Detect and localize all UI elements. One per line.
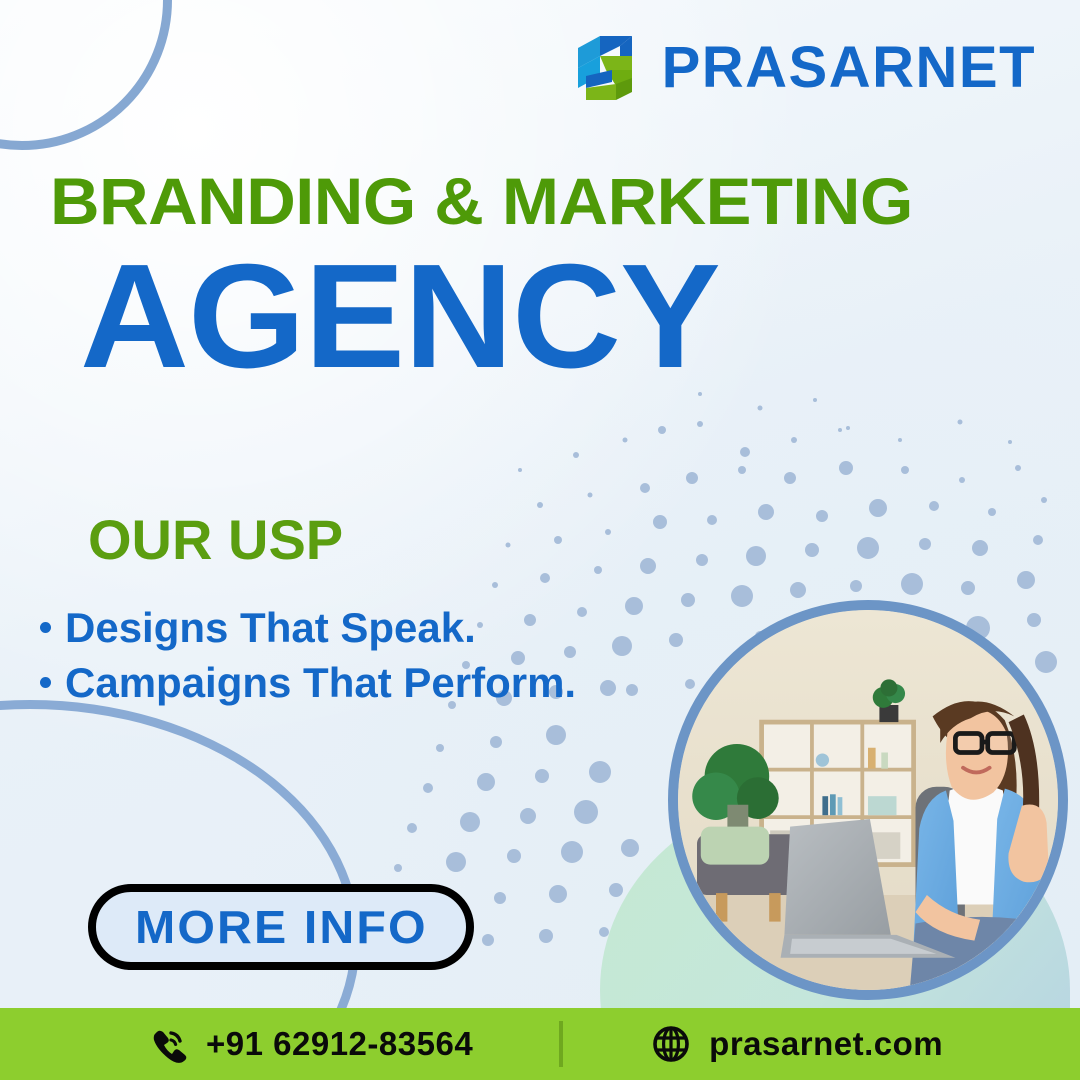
usp-item-label: Designs That Speak.: [65, 600, 476, 655]
bullet-icon: [40, 677, 51, 688]
list-item: Campaigns That Perform.: [40, 655, 576, 710]
brand-name: PRASARNET: [662, 39, 1036, 97]
decorative-ring-top-left: [0, 0, 172, 150]
headline-line-1: BRANDING & MARKETING: [50, 168, 913, 234]
footer-phone-number: +91 62912-83564: [206, 1025, 473, 1063]
headline-line-2: AGENCY: [80, 243, 720, 391]
list-item: Designs That Speak.: [40, 600, 576, 655]
usp-title: OUR USP: [88, 512, 343, 568]
brand-logo[interactable]: PRASARNET: [572, 30, 1036, 106]
more-info-button[interactable]: MORE INFO: [88, 884, 474, 970]
more-info-button-label: MORE INFO: [135, 900, 428, 954]
phone-icon: [148, 1024, 188, 1064]
contact-footer-bar: +91 62912-83564 prasarnet.com: [0, 1008, 1080, 1080]
bullet-icon: [40, 622, 51, 633]
prasarnet-cube-logo-icon: [572, 30, 644, 106]
footer-phone[interactable]: +91 62912-83564: [148, 1024, 473, 1064]
usp-list: Designs That Speak. Campaigns That Perfo…: [40, 600, 576, 711]
portrait-photo-frame: [668, 600, 1068, 1000]
portrait-photo: [678, 610, 1058, 990]
footer-divider: [559, 1021, 563, 1067]
poster-canvas: PRASARNET BRANDING & MARKETING AGENCY OU…: [0, 0, 1080, 1080]
globe-icon: [651, 1024, 691, 1064]
usp-item-label: Campaigns That Perform.: [65, 655, 576, 710]
footer-website[interactable]: prasarnet.com: [651, 1024, 943, 1064]
footer-website-url: prasarnet.com: [709, 1025, 943, 1063]
